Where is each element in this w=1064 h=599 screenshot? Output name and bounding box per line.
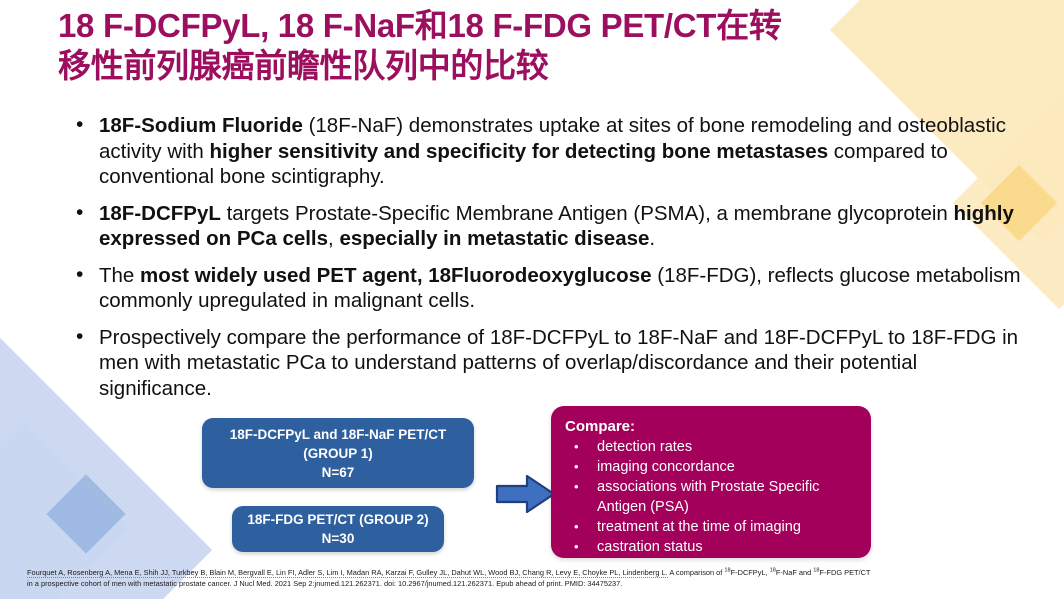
- bullet-item-2: •18F-DCFPyL targets Prostate-Specific Me…: [72, 201, 1024, 252]
- citation-agent-1: F-DCFPyL,: [731, 568, 770, 577]
- compare-item-5: •castration status: [565, 537, 859, 557]
- compare-item-list: •detection rates•imaging concordance•ass…: [565, 437, 859, 557]
- flow-box-group-2: 18F-FDG PET/CT (GROUP 2) N=30: [232, 506, 444, 552]
- citation-footer: Fourquet A, Rosenberg A, Mena E, Shih JJ…: [27, 568, 1057, 589]
- group1-line-1: 18F-DCFPyL and 18F-NaF PET/CT: [230, 427, 447, 442]
- bullet-item-1: •18F-Sodium Fluoride (18F-NaF) demonstra…: [72, 113, 1024, 190]
- bullet-marker: •: [76, 324, 83, 349]
- compare-bullet-marker: •: [574, 537, 579, 557]
- compare-item-1: •detection rates: [565, 437, 859, 457]
- compare-heading: Compare:: [565, 417, 859, 436]
- flow-box-group-1: 18F-DCFPyL and 18F-NaF PET/CT (GROUP 1) …: [202, 418, 474, 488]
- compare-item-label: detection rates: [597, 439, 692, 455]
- compare-item-3: •associations with Prostate Specific Ant…: [565, 477, 859, 517]
- group2-line-1: 18F-FDG PET/CT (GROUP 2): [247, 512, 428, 527]
- slide-title-line-2: 移性前列腺癌前瞻性队列中的比较: [58, 46, 1018, 86]
- group1-line-2: (GROUP 1): [303, 446, 373, 461]
- citation-agent-3: F-FDG PET/CT: [820, 568, 871, 577]
- citation-authors: Fourquet A, Rosenberg A, Mena E, Shih JJ…: [27, 568, 668, 578]
- group1-line-3: N=67: [322, 465, 355, 480]
- bullet-text: 18F-Sodium Fluoride (18F-NaF) demonstrat…: [99, 114, 1006, 188]
- bullet-marker: •: [76, 200, 83, 225]
- compare-item-label: associations with Prostate Specific Anti…: [597, 479, 819, 515]
- compare-item-label: castration status: [597, 539, 703, 555]
- right-arrow-icon: [495, 472, 557, 516]
- bullet-item-3: •The most widely used PET agent, 18Fluor…: [72, 263, 1024, 314]
- compare-bullet-marker: •: [574, 457, 579, 477]
- bullet-marker: •: [76, 262, 83, 287]
- bullet-text: 18F-DCFPyL targets Prostate-Specific Mem…: [99, 202, 1014, 251]
- compare-bullet-marker: •: [574, 477, 579, 497]
- decorative-diamond-bottom-left-small: [46, 474, 125, 553]
- citation-line-2: in a prospective cohort of men with meta…: [27, 579, 622, 588]
- compare-item-4: •treatment at the time of imaging: [565, 517, 859, 537]
- compare-item-2: •imaging concordance: [565, 457, 859, 477]
- group2-line-2: N=30: [322, 531, 355, 546]
- slide-title-line-1: 18 F-DCFPyL, 18 F-NaF和18 F-FDG PET/CT在转: [58, 7, 782, 44]
- compare-item-label: imaging concordance: [597, 459, 735, 475]
- bullet-text: The most widely used PET agent, 18Fluoro…: [99, 264, 1021, 313]
- compare-bullet-marker: •: [574, 517, 579, 537]
- compare-bullet-marker: •: [574, 437, 579, 457]
- citation-title-lead: A comparison of: [668, 568, 725, 577]
- slide-title: 18 F-DCFPyL, 18 F-NaF和18 F-FDG PET/CT在转 …: [58, 6, 1018, 86]
- compare-item-label: treatment at the time of imaging: [597, 519, 801, 535]
- bullet-text: Prospectively compare the performance of…: [99, 326, 1018, 400]
- compare-panel: Compare: •detection rates•imaging concor…: [551, 406, 871, 558]
- slide-canvas: 18 F-DCFPyL, 18 F-NaF和18 F-FDG PET/CT在转 …: [0, 0, 1064, 599]
- bullet-list: •18F-Sodium Fluoride (18F-NaF) demonstra…: [72, 113, 1024, 412]
- bullet-marker: •: [76, 112, 83, 137]
- citation-agent-2: F-NaF and: [776, 568, 813, 577]
- bullet-item-4: •Prospectively compare the performance o…: [72, 325, 1024, 402]
